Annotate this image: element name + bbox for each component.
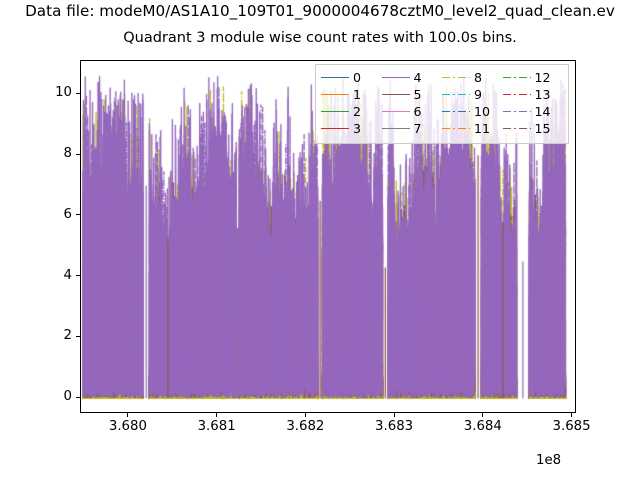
legend-entry: 15 [503, 120, 564, 137]
legend-entry: 3 [321, 120, 382, 137]
x-tick-label: 3.684 [443, 420, 523, 434]
legend-entry: 4 [382, 69, 443, 86]
legend-line-swatch [442, 73, 470, 83]
legend-line-swatch [321, 107, 349, 117]
x-tick-label: 3.685 [532, 420, 612, 434]
legend-line-swatch [442, 124, 470, 134]
y-tick-label: 10 [30, 86, 72, 99]
legend-line-swatch [321, 90, 349, 100]
legend-entry: 1 [321, 86, 382, 103]
legend-line-swatch [382, 107, 410, 117]
legend-entry: 11 [442, 120, 503, 137]
legend-label: 7 [414, 122, 422, 135]
x-tick-mark [127, 413, 128, 417]
legend-entry: 7 [382, 120, 443, 137]
y-tick-mark [76, 275, 80, 276]
x-tick-mark [216, 413, 217, 417]
legend-label: 8 [474, 71, 482, 84]
legend-line-swatch [321, 73, 349, 83]
legend-entry: 12 [503, 69, 564, 86]
legend-entry: 5 [382, 86, 443, 103]
legend-label: 15 [535, 122, 551, 135]
legend-line-swatch [442, 90, 470, 100]
x-tick-mark [305, 413, 306, 417]
legend-entry: 2 [321, 103, 382, 120]
legend-entry: 9 [442, 86, 503, 103]
legend-entry: 13 [503, 86, 564, 103]
legend-entry: 14 [503, 103, 564, 120]
legend-line-swatch [382, 73, 410, 83]
legend-label: 5 [414, 88, 422, 101]
legend-label: 14 [535, 105, 551, 118]
legend-label: 1 [353, 88, 361, 101]
legend-label: 4 [414, 71, 422, 84]
legend-label: 6 [414, 105, 422, 118]
x-tick-mark [394, 413, 395, 417]
legend-label: 9 [474, 88, 482, 101]
x-axis-offset-label: 1e8 [536, 453, 561, 468]
figure-suptitle: Data file: modeM0/AS1A10_109T01_90000046… [25, 2, 615, 20]
x-tick-label: 3.681 [177, 420, 257, 434]
legend-grid: 0481215913261014371115 [321, 69, 563, 139]
legend-label: 2 [353, 105, 361, 118]
x-tick-label: 3.683 [354, 420, 434, 434]
chart-title: Quadrant 3 module wise count rates with … [123, 29, 517, 47]
series-legend: 0481215913261014371115 [315, 64, 569, 144]
x-tick-mark [482, 413, 483, 417]
legend-entry: 0 [321, 69, 382, 86]
legend-entry: 10 [442, 103, 503, 120]
legend-entry: 8 [442, 69, 503, 86]
legend-label: 0 [353, 71, 361, 84]
x-tick-label: 3.680 [88, 420, 168, 434]
legend-label: 11 [474, 122, 490, 135]
y-tick-label: 6 [30, 208, 72, 221]
legend-line-swatch [442, 107, 470, 117]
legend-label: 3 [353, 122, 361, 135]
legend-line-swatch [503, 90, 531, 100]
y-tick-mark [76, 93, 80, 94]
x-tick-mark [571, 413, 572, 417]
legend-line-swatch [503, 107, 531, 117]
legend-line-swatch [382, 90, 410, 100]
legend-label: 10 [474, 105, 490, 118]
legend-line-swatch [503, 73, 531, 83]
figure-canvas: Data file: modeM0/AS1A10_109T01_90000046… [0, 0, 640, 480]
legend-label: 12 [535, 71, 551, 84]
y-tick-label: 2 [30, 329, 72, 342]
x-tick-label: 3.682 [265, 420, 345, 434]
y-tick-mark [76, 154, 80, 155]
y-tick-label: 4 [30, 269, 72, 282]
legend-entry: 6 [382, 103, 443, 120]
y-tick-mark [76, 397, 80, 398]
y-tick-label: 0 [30, 390, 72, 403]
y-tick-mark [76, 214, 80, 215]
legend-line-swatch [321, 124, 349, 134]
legend-line-swatch [382, 124, 410, 134]
y-tick-label: 8 [30, 147, 72, 160]
legend-label: 13 [535, 88, 551, 101]
y-tick-mark [76, 336, 80, 337]
legend-line-swatch [503, 124, 531, 134]
